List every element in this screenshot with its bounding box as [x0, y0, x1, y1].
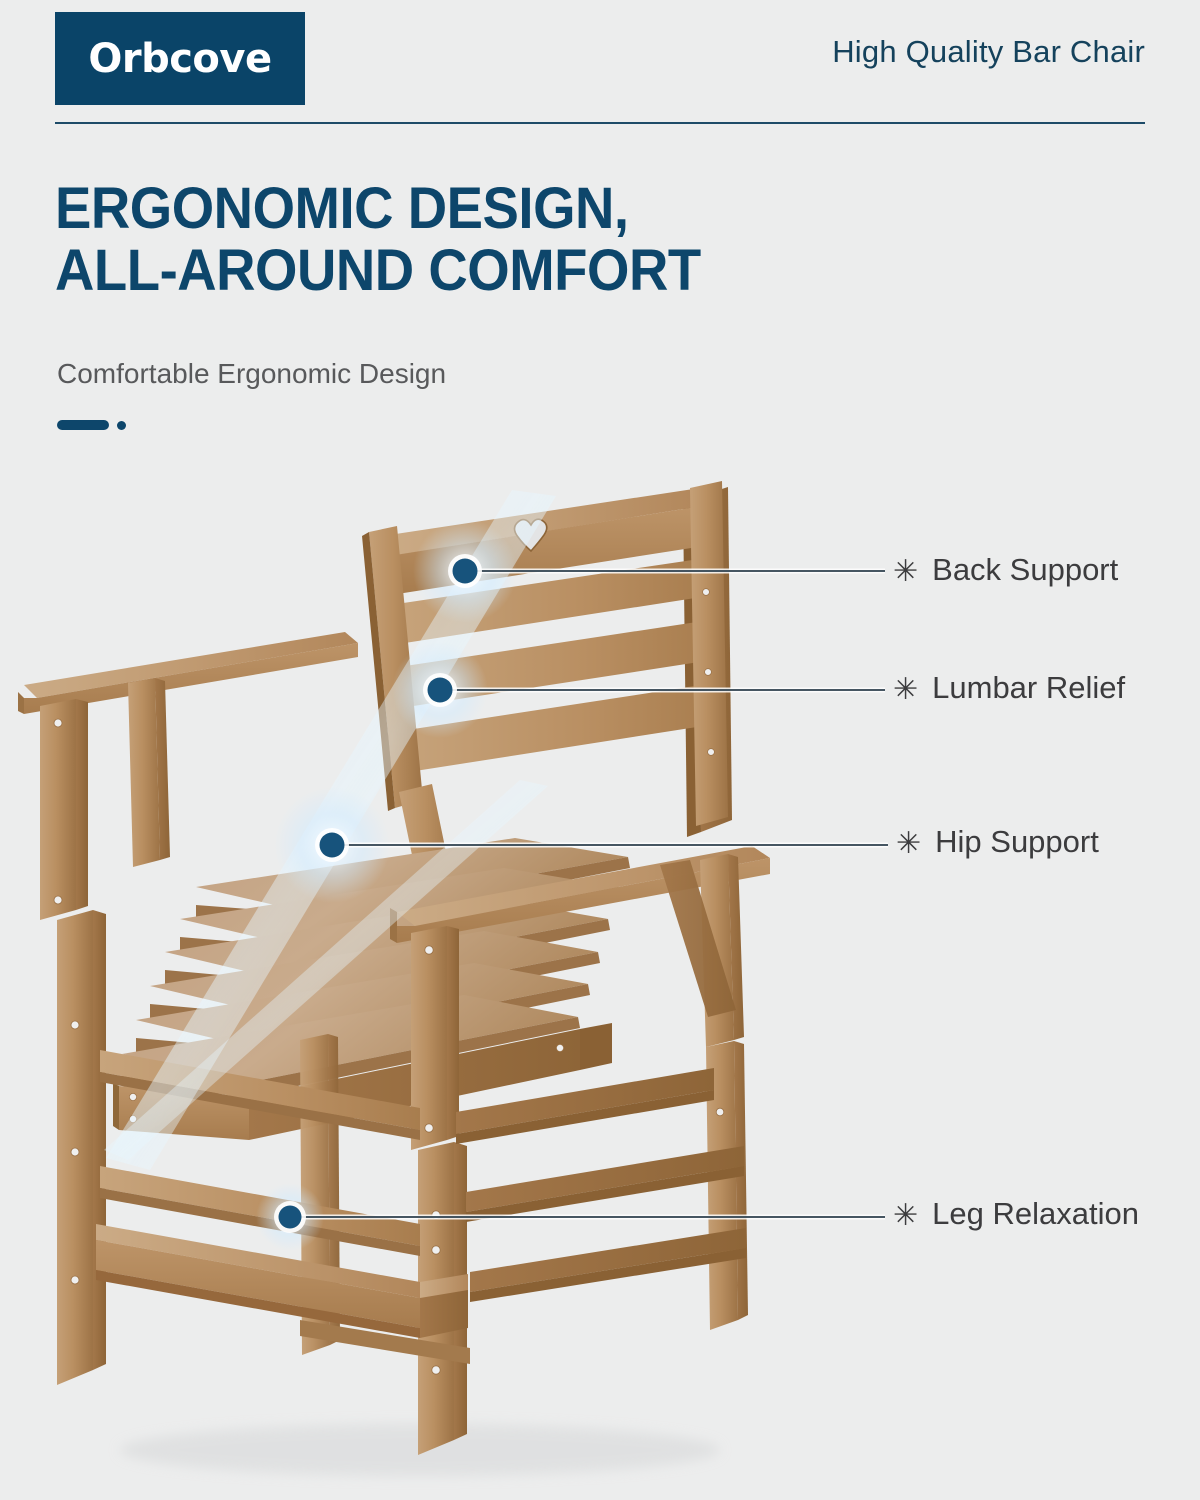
brand-logo: Orbcove [55, 12, 305, 105]
header-divider [55, 122, 1145, 124]
headline-line-1: ERGONOMIC DESIGN, [55, 176, 629, 241]
product-illustration [0, 440, 1200, 1500]
asterisk-icon: ✳ [893, 557, 918, 587]
brand-logo-text: Orbcove [88, 36, 271, 82]
accent-dot [117, 421, 126, 430]
page-subtitle: Comfortable Ergonomic Design [57, 358, 446, 390]
asterisk-icon: ✳ [893, 1201, 918, 1231]
page-title: ERGONOMIC DESIGN, ALL-AROUND COMFORT [55, 178, 901, 302]
callout-label: Lumbar Relief [932, 670, 1125, 706]
page-header: Orbcove High Quality Bar Chair [0, 0, 1200, 128]
callout-hip-support: ✳ Hip Support [896, 824, 1099, 860]
callout-lumbar-relief: ✳ Lumbar Relief [893, 670, 1125, 706]
asterisk-icon: ✳ [896, 829, 921, 859]
callout-label: Back Support [932, 552, 1118, 588]
bar-chair-render [0, 440, 1200, 1500]
accent-rule [57, 418, 137, 432]
callout-label: Hip Support [935, 824, 1099, 860]
headline-line-2: ALL-AROUND COMFORT [55, 240, 901, 302]
callout-label: Leg Relaxation [932, 1196, 1139, 1232]
callout-leg-relaxation: ✳ Leg Relaxation [893, 1196, 1139, 1232]
accent-bar [57, 420, 109, 430]
infographic-page: Orbcove High Quality Bar Chair ERGONOMIC… [0, 0, 1200, 1500]
header-product-title: High Quality Bar Chair [832, 34, 1145, 70]
asterisk-icon: ✳ [893, 675, 918, 705]
callout-back-support: ✳ Back Support [893, 552, 1118, 588]
